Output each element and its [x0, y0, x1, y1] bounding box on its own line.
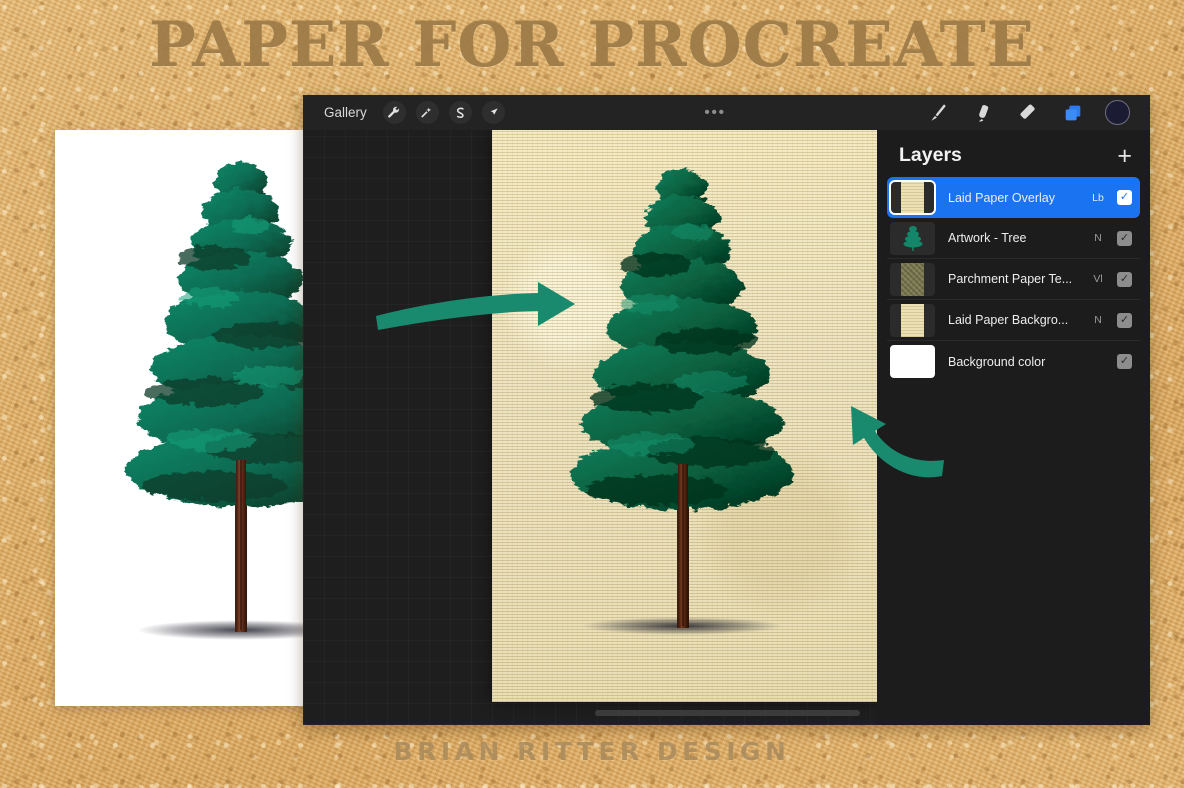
- smudge-icon[interactable]: [970, 100, 996, 126]
- layer-visibility-checkbox[interactable]: ✓: [1117, 354, 1132, 369]
- layer-name: Laid Paper Overlay: [948, 191, 1088, 205]
- layer-thumbnail: [890, 345, 935, 378]
- selection-s-icon[interactable]: [449, 101, 472, 124]
- tree-illustration-on-paper: [492, 130, 877, 702]
- add-layer-button[interactable]: +: [1117, 146, 1132, 166]
- layer-visibility-checkbox[interactable]: ✓: [1117, 272, 1132, 287]
- procreate-toolbar: Gallery: [303, 95, 1150, 130]
- layer-thumbnail: [890, 222, 935, 255]
- layer-thumbnail: [890, 181, 935, 214]
- layer-blend-mode[interactable]: Lb: [1088, 192, 1108, 204]
- eraser-icon[interactable]: [1015, 100, 1041, 126]
- transform-arrow-icon[interactable]: [482, 101, 505, 124]
- poster-canvas: PAPER FOR PROCREATE: [0, 0, 1184, 788]
- home-indicator-bar: [595, 710, 860, 716]
- brush-icon[interactable]: [925, 100, 951, 126]
- layer-blend-mode[interactable]: N: [1088, 314, 1108, 326]
- layer-row[interactable]: Artwork - Tree N ✓: [887, 218, 1140, 259]
- layer-visibility-checkbox[interactable]: ✓: [1117, 231, 1132, 246]
- layer-row[interactable]: Laid Paper Backgro... N ✓: [887, 300, 1140, 341]
- layer-visibility-checkbox[interactable]: ✓: [1117, 190, 1132, 205]
- layer-blend-mode[interactable]: N: [1088, 232, 1108, 244]
- layer-name: Parchment Paper Te...: [948, 272, 1088, 286]
- layers-title: Layers: [899, 144, 962, 167]
- wrench-icon[interactable]: [383, 101, 406, 124]
- procreate-canvas-textured[interactable]: [492, 130, 877, 702]
- tree-thumb-icon: [900, 223, 926, 253]
- layer-visibility-checkbox[interactable]: ✓: [1117, 313, 1132, 328]
- color-swatch-button[interactable]: [1105, 100, 1130, 125]
- layer-name: Background color: [948, 355, 1088, 369]
- layer-name: Artwork - Tree: [948, 231, 1088, 245]
- layer-row[interactable]: Background color ✓: [887, 341, 1140, 382]
- footer-credit: BRIAN RITTER DESIGN: [0, 737, 1184, 766]
- layers-panel-header: Layers +: [877, 130, 1150, 177]
- ipad-procreate-screen: Gallery: [303, 95, 1150, 725]
- layers-panel: Layers + Laid Paper Overlay Lb ✓: [877, 130, 1150, 725]
- adjustments-wand-icon[interactable]: [416, 101, 439, 124]
- layer-thumbnail: [890, 304, 935, 337]
- layer-row[interactable]: Laid Paper Overlay Lb ✓: [887, 177, 1140, 218]
- layers-icon[interactable]: [1060, 100, 1086, 126]
- more-options-icon[interactable]: •••: [704, 108, 725, 118]
- layer-thumbnail: [890, 263, 935, 296]
- layer-row[interactable]: Parchment Paper Te... Vl ✓: [887, 259, 1140, 300]
- gallery-button[interactable]: Gallery: [318, 103, 373, 122]
- layer-blend-mode[interactable]: Vl: [1088, 273, 1108, 285]
- layer-name: Laid Paper Backgro...: [948, 313, 1088, 327]
- page-title: PAPER FOR PROCREATE: [0, 13, 1184, 77]
